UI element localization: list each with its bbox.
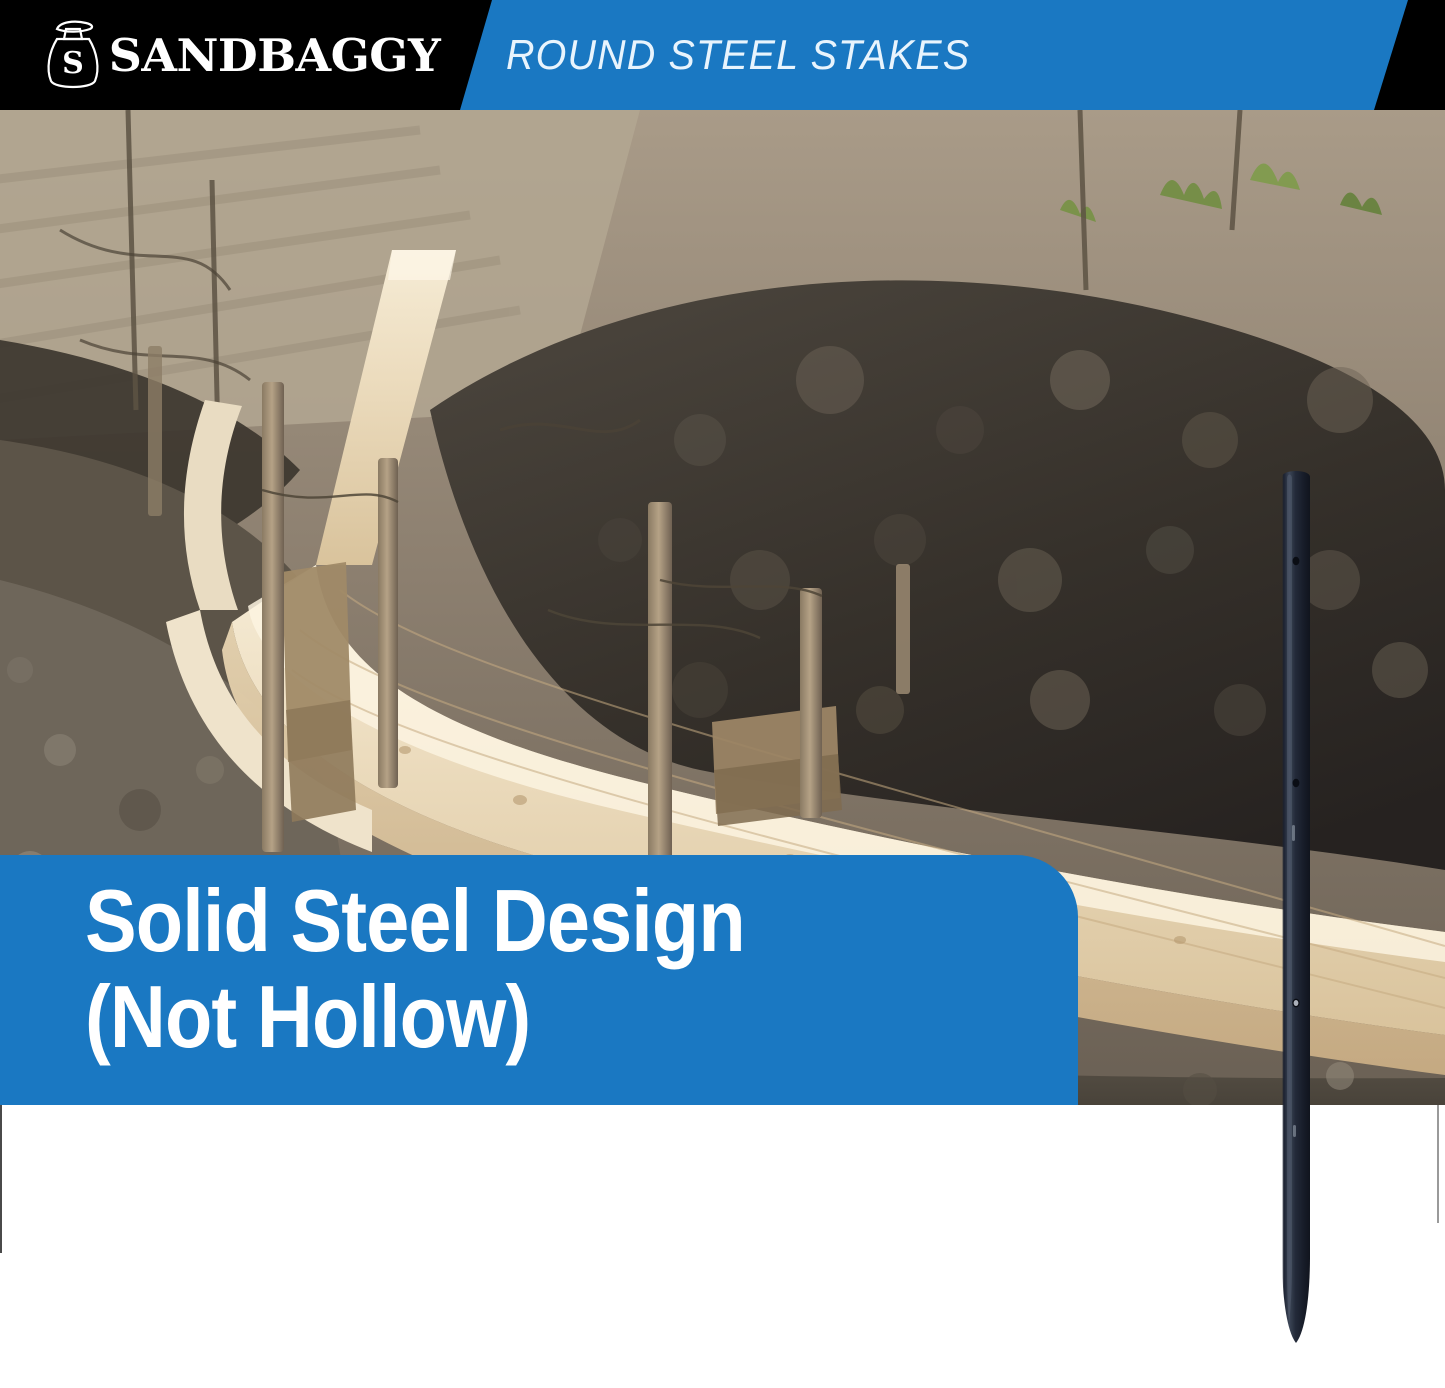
headline-panel: Solid Steel Design (Not Hollow): [0, 855, 1078, 1105]
steel-stake-graphic: [1278, 465, 1314, 1355]
header-bar: S SANDBAGGY ROUND STEEL STAKES: [0, 0, 1445, 110]
steel-stake-foreground: [1278, 465, 1314, 1355]
infographic-page: S SANDBAGGY ROUND STEEL STAKES: [0, 0, 1445, 1388]
brand-name: SANDBAGGY: [109, 33, 441, 78]
header-title: ROUND STEEL STAKES: [506, 0, 970, 110]
sandbag-icon: S: [44, 19, 102, 91]
description-section: [0, 1105, 1445, 1388]
logo-letter: S: [62, 46, 84, 81]
left-edge-rule: [0, 1105, 2, 1253]
right-edge-rule: [1437, 1105, 1439, 1223]
brand-logo[interactable]: S SANDBAGGY: [44, 18, 437, 92]
headline-text: Solid Steel Design (Not Hollow): [85, 873, 930, 1065]
